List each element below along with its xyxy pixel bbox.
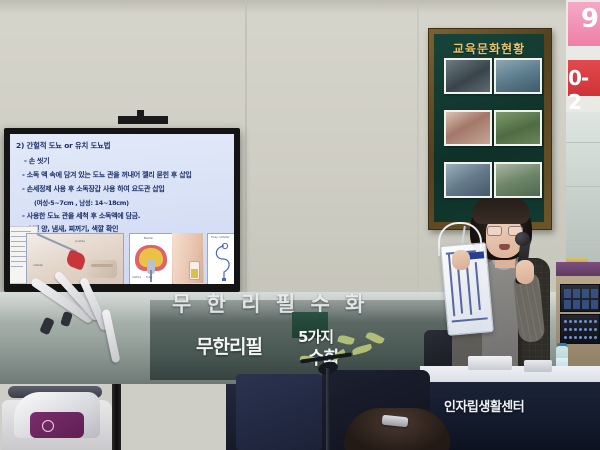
exercise-bike-accent-panel xyxy=(30,412,84,438)
pink-sign: 9 xyxy=(568,2,600,46)
presenter-mouth xyxy=(499,244,510,250)
slide-subnote: (여성-5~7cm , 남성: 14~18cm) xyxy=(34,198,129,207)
navy-chair-back xyxy=(236,374,322,450)
slide-figure-anatomy: catheter prostate xyxy=(26,233,124,284)
red-sign: 0-2 xyxy=(568,60,600,96)
glasses-icon xyxy=(487,226,521,234)
presenter-left-hand xyxy=(452,250,470,270)
board-photo xyxy=(444,58,492,94)
slide-figure-leg-bag xyxy=(172,233,204,283)
event-banner-text: 인자립생활센터 xyxy=(444,396,524,415)
wall-seam-right xyxy=(417,0,419,300)
board-photo xyxy=(444,110,492,146)
board-photo xyxy=(494,58,542,94)
red-sign-text: 0-2 xyxy=(568,66,599,114)
presenter-hair-fringe xyxy=(472,198,530,224)
presenter-right-hand xyxy=(516,260,534,284)
presentation-slide: 2) 간헐적 도뇨 or 유치 도뇨법 - 손 씻기 - 소독 액 속에 담겨 … xyxy=(10,134,234,284)
desk-item xyxy=(524,360,552,372)
slide-bullet: - 손세정제 사용 후 소독장갑 사용 하여 요도관 삽입 xyxy=(22,184,165,194)
mixer-unit[interactable] xyxy=(560,314,600,344)
tv-mount-bracket xyxy=(118,116,168,124)
slide-bullet: - 사용한 도뇨 관을 세척 후 소독액에 담금. xyxy=(22,211,140,221)
desk-papers xyxy=(468,356,512,370)
amplifier-unit[interactable] xyxy=(560,284,600,312)
exercise-bike-logo-icon xyxy=(42,420,54,432)
audience-member-head xyxy=(344,408,450,450)
slide-bullet: - 소독 액 속에 담겨 있는 도뇨 관을 꺼내어 젤리 묻힌 후 삽입 xyxy=(22,170,191,180)
slide-bullet: - 손 씻기 xyxy=(24,156,49,166)
board-photo xyxy=(444,162,492,198)
microphone-stand[interactable] xyxy=(326,368,330,450)
microphone-head-icon xyxy=(515,232,530,246)
board-photo xyxy=(494,162,542,198)
pink-sign-text: 9 xyxy=(581,4,598,34)
lecture-room-photo: 9 0-2 교육문화현황 2) 간헐적 도뇨 or 유치 도뇨법 - 손 씻기 … xyxy=(0,0,600,450)
slide-figure-bladder: Bladder Urethra Foley xyxy=(129,233,173,284)
storefront-text-line1: 무한리필 xyxy=(196,332,262,359)
bulletin-board-title: 교육문화현황 xyxy=(434,40,544,57)
bag-brand-label xyxy=(468,251,485,259)
ceiling-shadow xyxy=(0,0,600,14)
storefront-top-text: 무 한 리 필 수 화 xyxy=(172,288,368,318)
slide-figure-foley: Foley catheter xyxy=(207,233,234,284)
board-photo xyxy=(494,110,542,146)
slide-title: 2) 간헐적 도뇨 or 유치 도뇨법 xyxy=(16,140,110,151)
wall-seam xyxy=(245,0,247,300)
